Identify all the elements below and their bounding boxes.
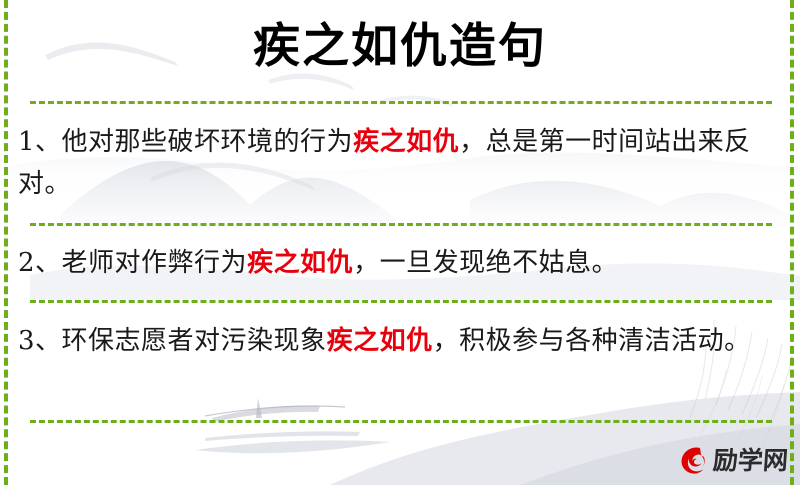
sentence-text-before: 环保志愿者对污染现象 [62, 326, 327, 356]
sentence-text-before: 他对那些破坏环境的行为 [62, 127, 354, 157]
highlighted-idiom: 疾之如仇 [353, 127, 459, 157]
divider-1 [30, 223, 772, 226]
highlighted-idiom: 疾之如仇 [247, 248, 353, 278]
list-item: 2、老师对作弊行为疾之如仇，一旦发现绝不姑息。 [18, 242, 770, 284]
frame-border-left [4, 0, 8, 485]
list-item: 3、环保志愿者对污染现象疾之如仇，积极参与各种清洁活动。 [18, 320, 770, 362]
swirl-flame-icon [675, 443, 709, 477]
sentence-text-before: 老师对作弊行为 [62, 248, 248, 278]
brand-name: 励学网 [712, 448, 789, 473]
divider-2 [30, 300, 772, 303]
sentence-text-after: ，一旦发现绝不姑息。 [353, 248, 618, 278]
page-title: 疾之如仇造句 [0, 14, 800, 80]
document-page: 疾之如仇造句 1、他对那些破坏环境的行为疾之如仇，总是第一时间站出来反对。 2、… [0, 0, 800, 485]
list-item: 1、他对那些破坏环境的行为疾之如仇，总是第一时间站出来反对。 [18, 121, 770, 205]
sentence-text-after: ，积极参与各种清洁活动。 [433, 326, 751, 356]
divider-bottom [30, 420, 772, 423]
divider-top [30, 101, 772, 104]
highlighted-idiom: 疾之如仇 [327, 326, 433, 356]
sentence-number: 2、 [18, 248, 62, 278]
site-watermark: 励学网 [675, 443, 788, 477]
sentence-number: 3、 [18, 326, 62, 356]
sentence-number: 1、 [18, 127, 62, 157]
frame-border-right [790, 0, 794, 485]
